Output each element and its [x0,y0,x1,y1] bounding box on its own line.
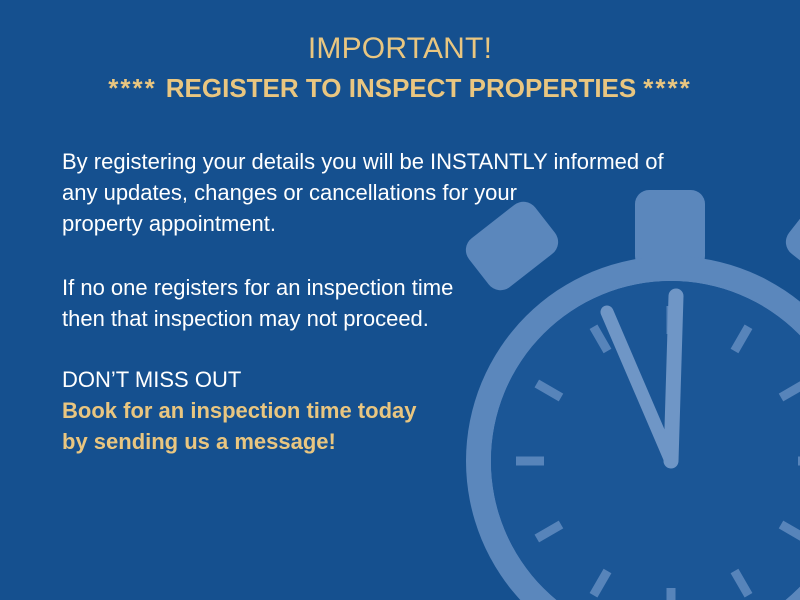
cta-dont-miss-out: DON’T MISS OUT [62,364,416,395]
paragraph-no-registration-warning: If no one registers for an inspection ti… [62,272,453,334]
leading-asterisks: **** [108,73,156,103]
headline-register: ****REGISTER TO INSPECT PROPERTIES**** [0,68,800,108]
paragraph-1-line-3: property appointment. [62,208,664,239]
paragraph-1-line-2: any updates, changes or cancellations fo… [62,177,664,208]
headline-important: IMPORTANT! [0,30,800,68]
slide-content: IMPORTANT! ****REGISTER TO INSPECT PROPE… [0,0,800,600]
call-to-action-block: DON’T MISS OUT Book for an inspection ti… [62,364,416,457]
slide-canvas: IMPORTANT! ****REGISTER TO INSPECT PROPE… [0,0,800,600]
trailing-asterisks: **** [643,73,691,103]
paragraph-2-line-1: If no one registers for an inspection ti… [62,272,453,303]
paragraph-1-line-1: By registering your details you will be … [62,146,664,177]
cta-send-message: by sending us a message! [62,426,416,457]
headline-register-text: REGISTER TO INSPECT PROPERTIES [166,73,637,103]
cta-book-inspection: Book for an inspection time today [62,395,416,426]
paragraph-2-line-2: then that inspection may not proceed. [62,303,453,334]
header-block: IMPORTANT! ****REGISTER TO INSPECT PROPE… [0,30,800,108]
paragraph-registering-benefits: By registering your details you will be … [62,146,664,239]
